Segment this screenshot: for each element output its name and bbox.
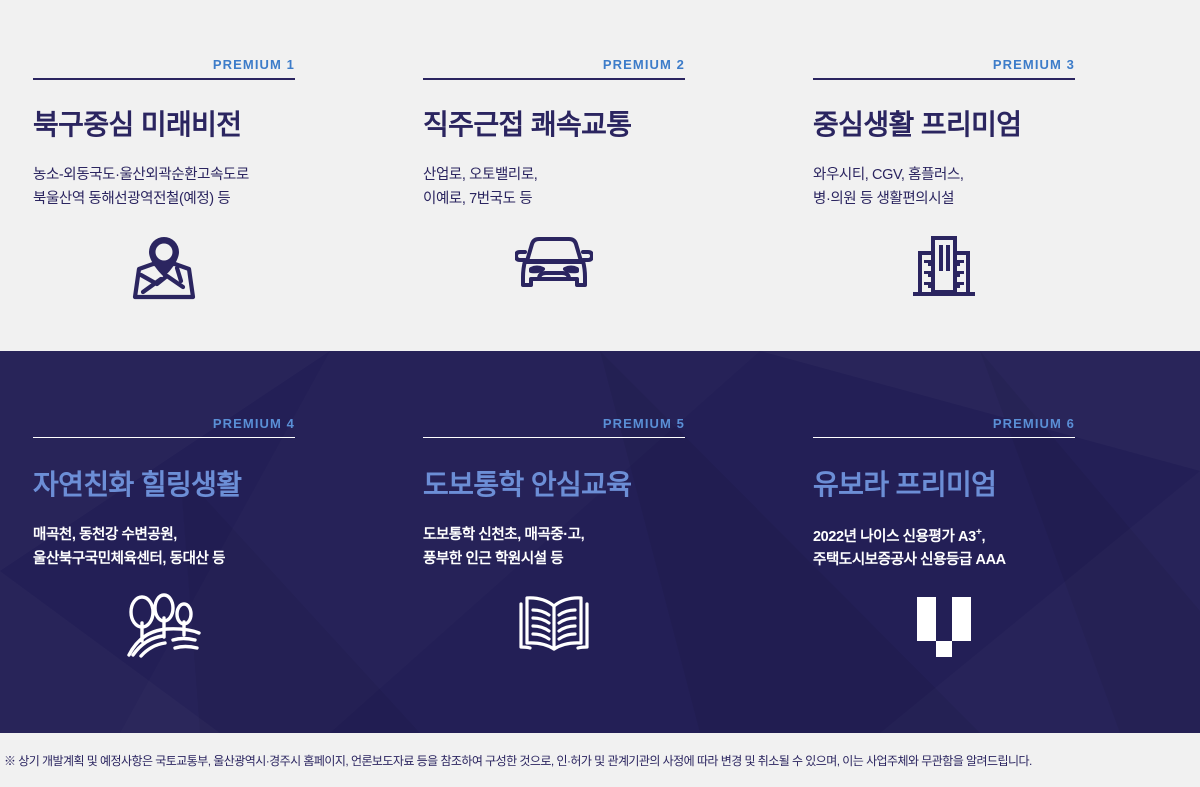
premium-description: 도보통학 신천초, 매곡중·고, 풍부한 인근 학원시설 등	[423, 524, 795, 572]
description-line: 이예로, 7번국도 등	[423, 188, 795, 212]
divider-rule	[423, 437, 685, 438]
uboara-logo-icon	[915, 595, 973, 659]
buildings-icon	[912, 235, 976, 299]
premium-label: PREMIUM 3	[813, 58, 1075, 71]
premium-label: PREMIUM 4	[33, 417, 295, 430]
divider-rule	[33, 78, 295, 80]
premium-title: 유보라 프리미엄	[813, 468, 1185, 502]
premium-title: 직주근접 쾌속교통	[423, 108, 795, 142]
description-line: 도보통학 신천초, 매곡중·고,	[423, 524, 795, 548]
premium-card-2: PREMIUM 2 직주근접 쾌속교통 산업로, 오토밸리로, 이예로, 7번국…	[405, 0, 795, 351]
premium-icon-wrap	[423, 593, 685, 653]
description-line: 북울산역 동해선광역전철(예정) 등	[33, 188, 405, 212]
premium-icon-wrap	[33, 235, 295, 305]
premium-icon-wrap	[423, 235, 685, 291]
premium-description: 2022년 나이스 신용평가 A3+, 주택도시보증공사 신용등급 AAA	[813, 524, 1185, 574]
premium-label: PREMIUM 6	[813, 417, 1075, 430]
description-line: 농소-외동국도·울산외곽순환고속도로	[33, 164, 405, 188]
premium-label: PREMIUM 5	[423, 417, 685, 430]
premium-title: 도보통학 안심교육	[423, 468, 795, 502]
car-icon	[515, 235, 593, 291]
description-line: 산업로, 오토밸리로,	[423, 164, 795, 188]
premium-card-grid-bottom: PREMIUM 4 자연친화 힐링생활 매곡천, 동천강 수변공원, 울산북구국…	[0, 351, 1200, 733]
premium-icon-wrap	[813, 595, 1075, 659]
description-line: 2022년 나이스 신용평가 A3+,	[813, 524, 1185, 550]
premium-description: 농소-외동국도·울산외곽순환고속도로 북울산역 동해선광역전철(예정) 등	[33, 164, 405, 212]
premium-title: 중심생활 프리미엄	[813, 108, 1185, 142]
description-line: 주택도시보증공사 신용등급 AAA	[813, 549, 1185, 573]
premium-description: 매곡천, 동천강 수변공원, 울산북구국민체육센터, 동대산 등	[33, 524, 405, 572]
premium-section-light: PREMIUM 1 북구중심 미래비전 농소-외동국도·울산외곽순환고속도로 북…	[0, 0, 1200, 351]
premium-card-4: PREMIUM 4 자연친화 힐링생활 매곡천, 동천강 수변공원, 울산북구국…	[15, 351, 405, 733]
description-line: 풍부한 인근 학원시설 등	[423, 548, 795, 572]
pin-hole	[156, 244, 173, 261]
premium-label: PREMIUM 2	[423, 58, 685, 71]
description-line: 병·의원 등 생활편의시설	[813, 188, 1185, 212]
open-book-icon	[519, 593, 589, 653]
description-text-suffix: ,	[982, 528, 986, 544]
description-line: 울산북구국민체육센터, 동대산 등	[33, 548, 405, 572]
premium-description: 산업로, 오토밸리로, 이예로, 7번국도 등	[423, 164, 795, 212]
divider-rule	[813, 78, 1075, 80]
premium-card-3: PREMIUM 3 중심생활 프리미엄 와우시티, CGV, 홈플러스, 병·의…	[795, 0, 1185, 351]
premium-description: 와우시티, CGV, 홈플러스, 병·의원 등 생활편의시설	[813, 164, 1185, 212]
disclaimer-text: ※ 상기 개발계획 및 예정사항은 국토교통부, 울산광역시·경주시 홈페이지,…	[0, 752, 1032, 769]
footer-disclaimer: ※ 상기 개발계획 및 예정사항은 국토교통부, 울산광역시·경주시 홈페이지,…	[0, 733, 1200, 787]
premium-icon-wrap	[33, 593, 295, 659]
premium-features-page: PREMIUM 1 북구중심 미래비전 농소-외동국도·울산외곽순환고속도로 북…	[0, 0, 1200, 787]
premium-card-grid-top: PREMIUM 1 북구중심 미래비전 농소-외동국도·울산외곽순환고속도로 북…	[0, 0, 1200, 351]
divider-rule	[813, 437, 1075, 438]
premium-icon-wrap	[813, 235, 1075, 299]
description-line: 매곡천, 동천강 수변공원,	[33, 524, 405, 548]
description-text: 2022년 나이스 신용평가 A3	[813, 528, 976, 544]
premium-section-dark: PREMIUM 4 자연친화 힐링생활 매곡천, 동천강 수변공원, 울산북구국…	[0, 351, 1200, 733]
premium-title: 북구중심 미래비전	[33, 108, 405, 142]
premium-title: 자연친화 힐링생활	[33, 468, 405, 502]
premium-card-6: PREMIUM 6 유보라 프리미엄 2022년 나이스 신용평가 A3+, 주…	[795, 351, 1185, 733]
divider-rule	[423, 78, 685, 80]
divider-rule	[33, 437, 295, 438]
description-line: 와우시티, CGV, 홈플러스,	[813, 164, 1185, 188]
premium-card-5: PREMIUM 5 도보통학 안심교육 도보통학 신천초, 매곡중·고, 풍부한…	[405, 351, 795, 733]
premium-card-1: PREMIUM 1 북구중심 미래비전 농소-외동국도·울산외곽순환고속도로 북…	[15, 0, 405, 351]
premium-label: PREMIUM 1	[33, 58, 295, 71]
map-pin-icon	[131, 235, 197, 305]
trees-field-icon	[127, 593, 201, 659]
